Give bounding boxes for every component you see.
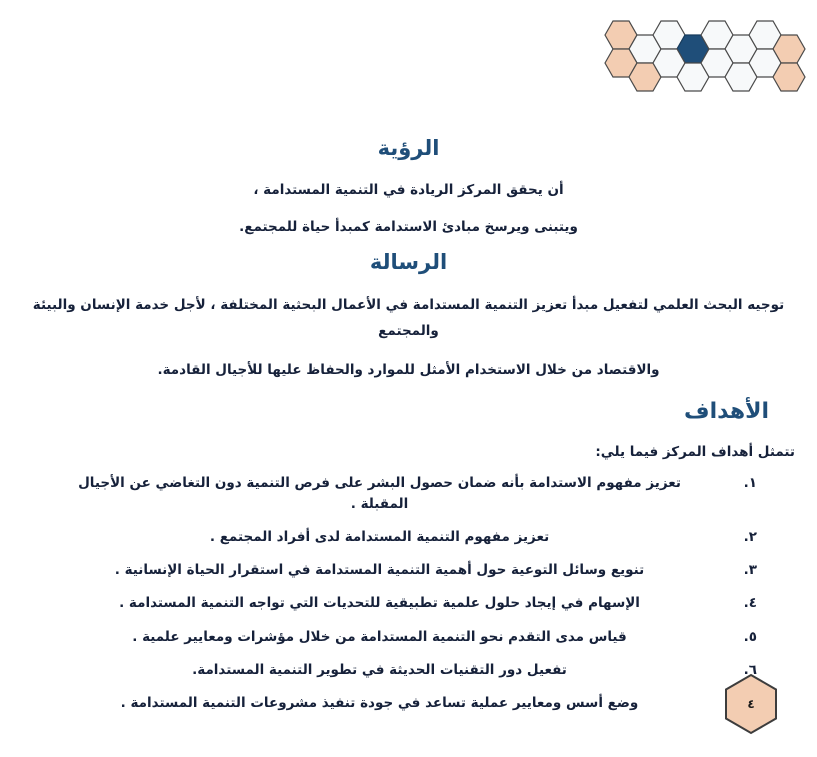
- mission-section: الرسالة توجيه البحث العلمي لتفعيل مبدأ ت…: [0, 232, 817, 397]
- objectives-list: ١. تعزيز مفهوم الاستدامة بأنه ضمان حصول …: [0, 473, 817, 713]
- objectives-heading: الأهداف: [0, 399, 817, 425]
- list-item-text: تعزيز مفهوم الاستدامة بأنه ضمان حصول الب…: [0, 473, 707, 514]
- list-item: ٥. قياس مدى التقدم نحو التنمية المستدامة…: [0, 627, 817, 647]
- list-item-text: الإسهام في إيجاد حلول علمية تطبيقية للتح…: [0, 593, 707, 613]
- list-item-text: وضع أسس ومعايير عملية تساعد في جودة تنفي…: [0, 693, 707, 713]
- list-item-number: ٥.: [707, 627, 757, 647]
- list-item: ٦. تفعيل دور التقنيات الحديثة في تطوير ا…: [0, 660, 817, 680]
- vision-line-1: أن يحقق المركز الريادة في التنمية المستد…: [0, 179, 817, 203]
- list-item: ٣. تنويع وسائل التوعية حول أهمية التنمية…: [0, 560, 817, 580]
- list-item: ٤. الإسهام في إيجاد حلول علمية تطبيقية ل…: [0, 593, 817, 613]
- mission-line-1: توجيه البحث العلمي لتفعيل مبدأ تعزيز الت…: [0, 293, 817, 344]
- list-item-text: تنويع وسائل التوعية حول أهمية التنمية ال…: [0, 560, 707, 580]
- list-item-text: قياس مدى التقدم نحو التنمية المستدامة من…: [0, 627, 707, 647]
- page-number-text: ٤: [723, 673, 779, 735]
- list-item-number: ٣.: [707, 560, 757, 580]
- list-item: ٢. تعزيز مفهوم التنمية المستدامة لدى أفر…: [0, 527, 817, 547]
- objectives-section: الأهداف تتمثل أهداف المركز فيما يلي: ١. …: [0, 381, 817, 726]
- list-item: ١. تعزيز مفهوم الاستدامة بأنه ضمان حصول …: [0, 473, 817, 514]
- list-item-text: تعزيز مفهوم التنمية المستدامة لدى أفراد …: [0, 527, 707, 547]
- list-item-number: ٤.: [707, 593, 757, 613]
- mission-heading: الرسالة: [0, 249, 817, 275]
- document-page: الرؤية أن يحقق المركز الريادة في التنمية…: [0, 0, 817, 757]
- list-item-number: ٢.: [707, 527, 757, 547]
- vision-heading: الرؤية: [0, 135, 817, 161]
- mission-line-2: والاقتصاد من خلال الاستخدام الأمثل للموا…: [0, 358, 817, 384]
- objectives-intro: تتمثل أهداف المركز فيما يلي:: [0, 444, 817, 460]
- list-item-number: ١.: [707, 473, 757, 493]
- list-item-text: تفعيل دور التقنيات الحديثة في تطوير التن…: [0, 660, 707, 680]
- list-item: ٧. وضع أسس ومعايير عملية تساعد في جودة ت…: [0, 693, 817, 713]
- page-number-badge: ٤: [723, 673, 779, 735]
- honeycomb-logo-icon: [597, 8, 809, 92]
